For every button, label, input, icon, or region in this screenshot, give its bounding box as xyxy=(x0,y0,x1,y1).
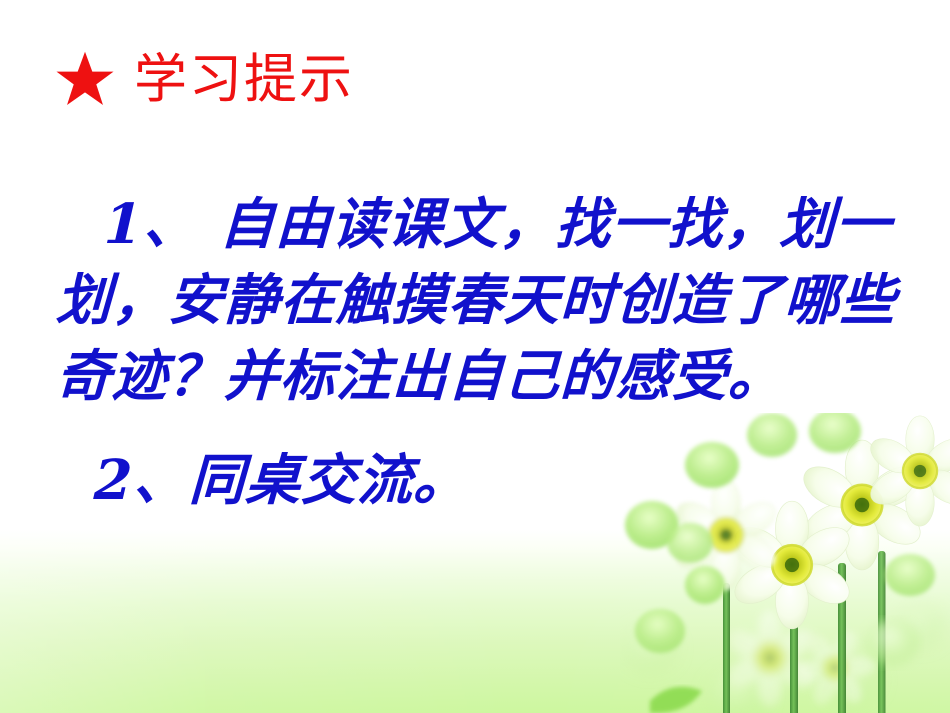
instruction-line: 1、 自由读课文，找一找，划一 xyxy=(55,186,918,262)
list-item-1: 1、 自由读课文，找一找，划一 划，安静在触摸春天时创造了哪些 奇迹？并标注出自… xyxy=(56,186,916,414)
instruction-line: 奇迹？并标注出自己的感受。 xyxy=(55,338,918,414)
list-item-2: 2、同桌交流。 xyxy=(56,442,916,518)
star-icon xyxy=(54,48,116,110)
page-title: 学习提示 xyxy=(134,53,354,106)
instruction-line: 2、同桌交流。 xyxy=(55,442,918,518)
instruction-line: 划，安静在触摸春天时创造了哪些 xyxy=(55,262,918,338)
page-title-row: 学习提示 xyxy=(54,48,354,110)
slide-canvas: 学习提示 1、 自由读课文，找一找，划一 划，安静在触摸春天时创造了哪些 奇迹？… xyxy=(0,0,950,713)
background-sheen xyxy=(0,513,950,713)
instruction-list: 1、 自由读课文，找一找，划一 划，安静在触摸春天时创造了哪些 奇迹？并标注出自… xyxy=(56,186,916,518)
